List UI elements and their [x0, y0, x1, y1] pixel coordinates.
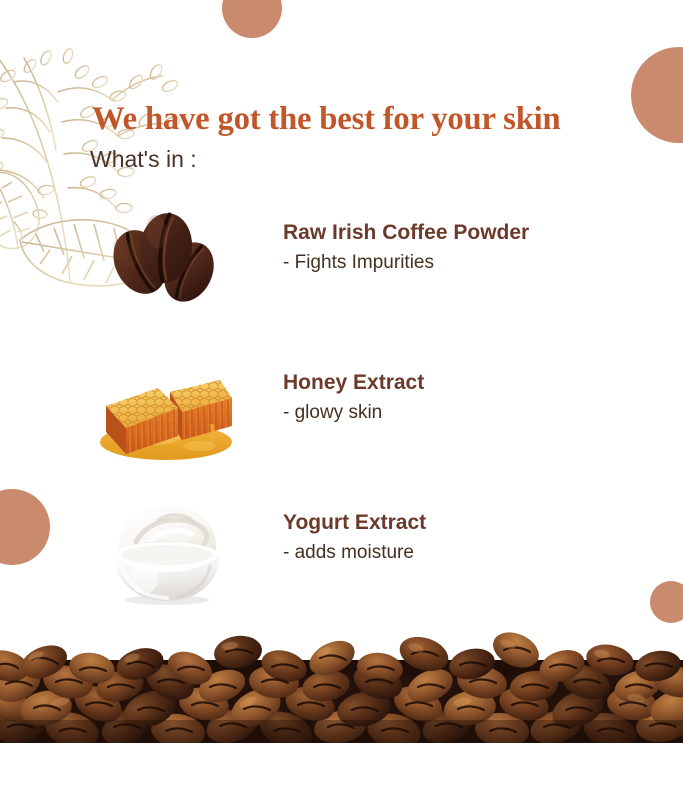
coffee-bean-photo-band [0, 620, 683, 743]
ingredient-row-coffee: Raw Irish Coffee Powder - Fights Impurit… [0, 200, 683, 320]
ingredient-name: Honey Extract [283, 370, 673, 395]
yogurt-bowl-icon [92, 490, 242, 610]
coffee-beans-photo [0, 620, 683, 743]
ingredient-row-yogurt: Yogurt Extract - adds moisture [0, 490, 683, 610]
ingredient-row-honey: Honey Extract - glowy skin [0, 350, 683, 470]
page-subtitle: What's in : [90, 146, 197, 173]
coffee-beans-icon [92, 200, 242, 320]
ingredient-benefit: - Fights Impurities [283, 252, 673, 275]
ingredient-text-yogurt: Yogurt Extract - adds moisture [283, 510, 673, 565]
top-center-half-circle-decor [222, 0, 282, 38]
ingredient-benefit: - adds moisture [283, 542, 673, 565]
poster-canvas: We have got the best for your skin What'… [0, 0, 683, 800]
top-right-circle-decor [631, 47, 683, 143]
ingredient-name: Raw Irish Coffee Powder [283, 220, 673, 245]
ingredient-text-honey: Honey Extract - glowy skin [283, 370, 673, 425]
honeycomb-icon [92, 350, 242, 470]
ingredient-text-coffee: Raw Irish Coffee Powder - Fights Impurit… [283, 220, 673, 275]
page-title: We have got the best for your skin [92, 101, 561, 138]
ingredient-name: Yogurt Extract [283, 510, 673, 535]
ingredient-benefit: - glowy skin [283, 402, 673, 425]
